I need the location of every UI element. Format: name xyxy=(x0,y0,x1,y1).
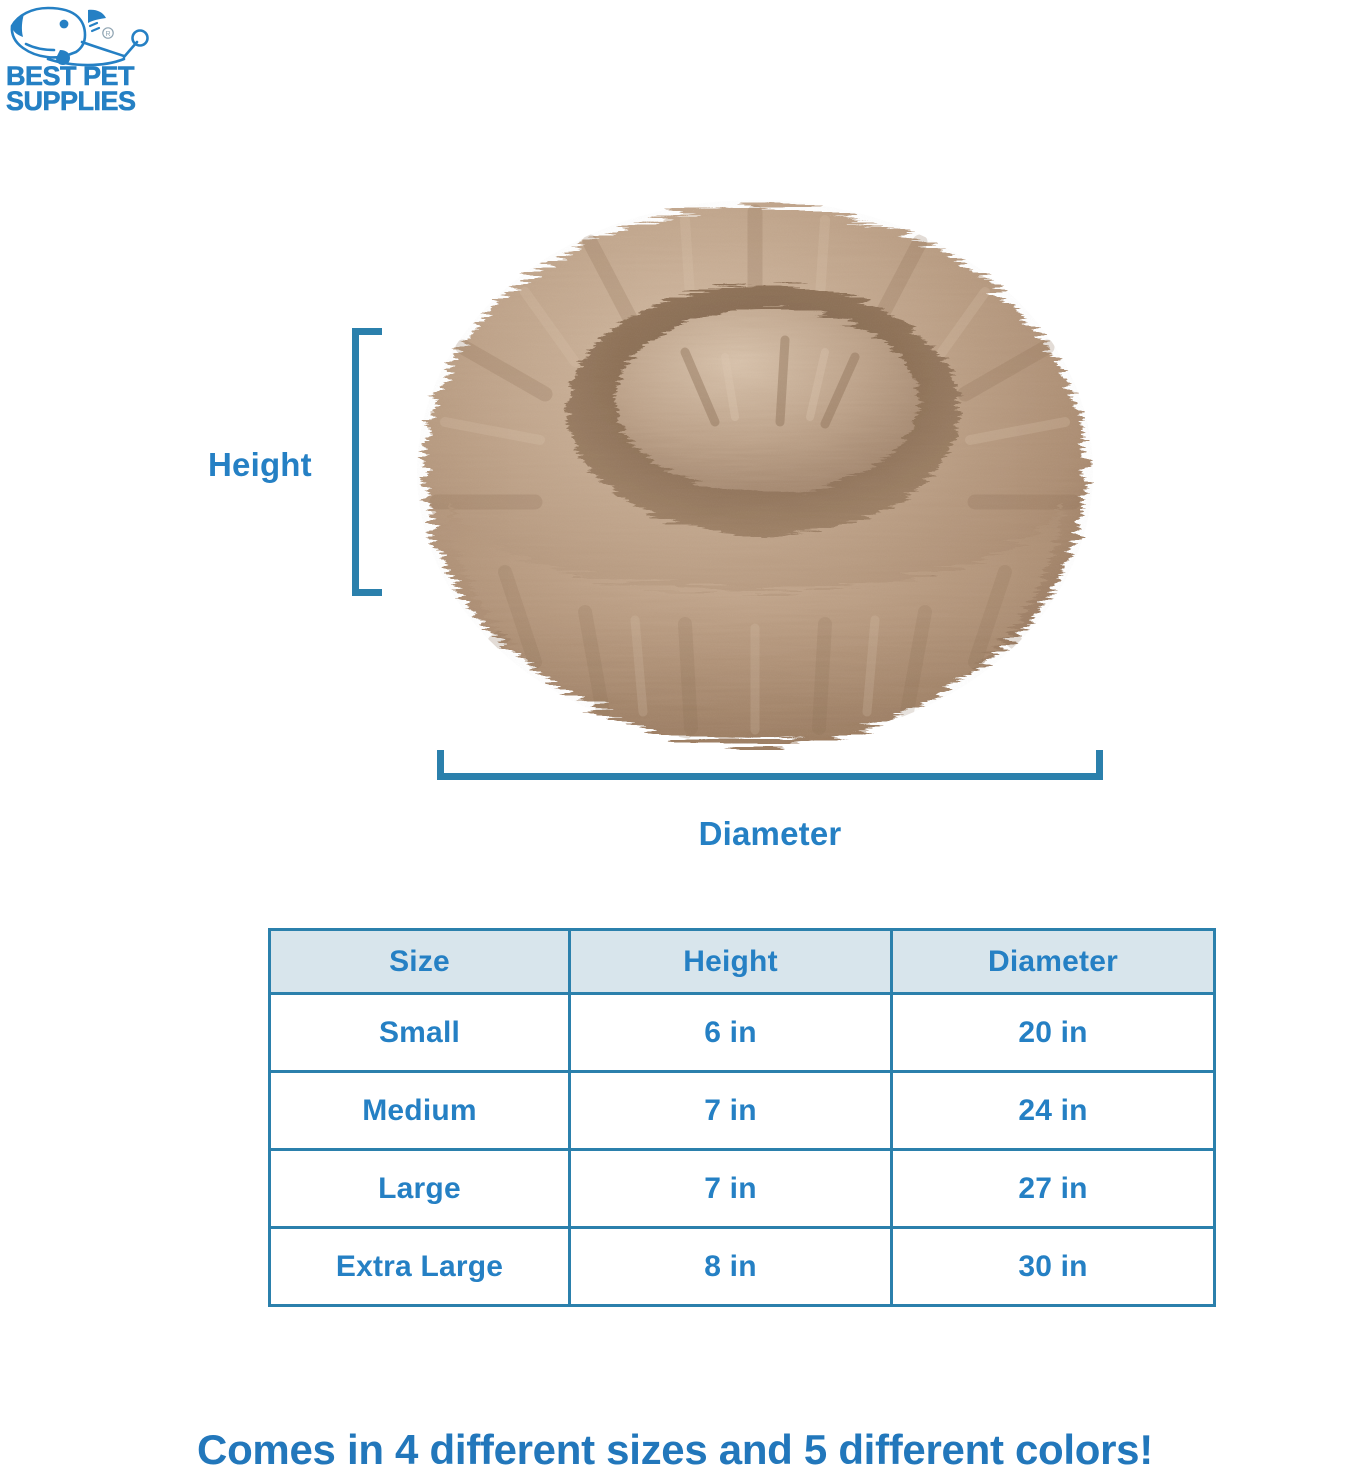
cell-size: Small xyxy=(270,994,570,1072)
cell-height: 8 in xyxy=(570,1228,892,1306)
height-bracket-tick-top xyxy=(352,328,382,335)
size-chart-table: Size Height Diameter Small 6 in 20 in Me… xyxy=(268,928,1216,1307)
table-header-row: Size Height Diameter xyxy=(270,930,1215,994)
cell-height: 6 in xyxy=(570,994,892,1072)
height-bracket xyxy=(352,328,384,596)
column-header-size: Size xyxy=(270,930,570,994)
cell-size: Medium xyxy=(270,1072,570,1150)
brand-wordmark: BEST PET SUPPLIES xyxy=(6,64,156,114)
cell-size: Extra Large xyxy=(270,1228,570,1306)
brand-logo: R BEST PET SUPPLIES xyxy=(4,2,156,130)
table-row: Small 6 in 20 in xyxy=(270,994,1215,1072)
cell-size: Large xyxy=(270,1150,570,1228)
diameter-bracket-stem xyxy=(437,773,1103,780)
footer-tagline: Comes in 4 different sizes and 5 differe… xyxy=(0,1426,1350,1474)
cell-height: 7 in xyxy=(570,1150,892,1228)
height-bracket-tick-bottom xyxy=(352,589,382,596)
cell-diameter: 24 in xyxy=(892,1072,1215,1150)
table-row: Extra Large 8 in 30 in xyxy=(270,1228,1215,1306)
svg-text:R: R xyxy=(105,31,110,38)
table-row: Medium 7 in 24 in xyxy=(270,1072,1215,1150)
column-header-height: Height xyxy=(570,930,892,994)
infographic-page: R BEST PET SUPPLIES xyxy=(0,0,1350,1475)
diameter-bracket-tick-right xyxy=(1096,750,1103,780)
cell-diameter: 27 in xyxy=(892,1150,1215,1228)
column-header-diameter: Diameter xyxy=(892,930,1215,994)
diameter-label: Diameter xyxy=(437,815,1103,853)
height-label: Height xyxy=(208,446,312,484)
height-bracket-stem xyxy=(352,328,359,596)
cell-height: 7 in xyxy=(570,1072,892,1150)
diameter-bracket-tick-left xyxy=(437,750,444,780)
cell-diameter: 30 in xyxy=(892,1228,1215,1306)
product-image xyxy=(385,172,1125,752)
table-row: Large 7 in 27 in xyxy=(270,1150,1215,1228)
cell-diameter: 20 in xyxy=(892,994,1215,1072)
wordmark-line-2: SUPPLIES xyxy=(6,89,156,114)
diameter-bracket xyxy=(437,750,1103,780)
donut-pet-bed-illustration xyxy=(385,172,1125,752)
